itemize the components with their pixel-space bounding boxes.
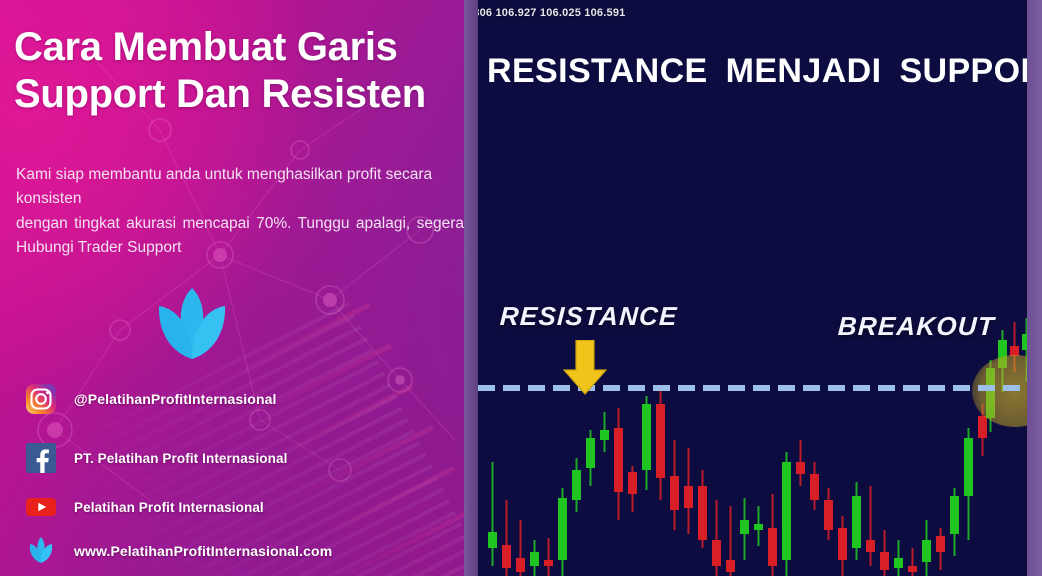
- facebook-icon[interactable]: [26, 443, 56, 473]
- contact-label: @PelatihanProfitInternasional: [74, 391, 276, 407]
- down-arrow-icon: [563, 340, 607, 395]
- candlestick-chart: [478, 0, 1027, 576]
- contact-website[interactable]: www.PelatihanProfitInternasional.com: [26, 536, 332, 566]
- contact-label: www.PelatihanProfitInternasional.com: [74, 543, 332, 559]
- lotus-logo: [146, 286, 238, 368]
- contact-youtube[interactable]: Pelatihan Profit Internasional: [26, 492, 264, 522]
- contact-label: PT. Pelatihan Profit Internasional: [74, 451, 287, 466]
- chart-panel: .806 106.927 106.025 106.591 RESISTANCEM…: [478, 0, 1027, 576]
- panel-divider: [464, 0, 478, 576]
- instagram-icon[interactable]: [26, 384, 56, 414]
- youtube-icon[interactable]: [26, 492, 56, 522]
- breakout-annotation: BREAKOUT: [837, 311, 996, 342]
- lotus-icon[interactable]: [26, 536, 56, 566]
- resistance-annotation: RESISTANCE: [499, 301, 678, 332]
- resistance-dashed-line: [478, 385, 1027, 391]
- left-promo-panel: Cara Membuat Garis Support Dan Resisten …: [0, 0, 468, 576]
- contact-label: Pelatihan Profit Internasional: [74, 500, 264, 515]
- right-edge-strip: [1027, 0, 1042, 576]
- promo-graphic: Cara Membuat Garis Support Dan Resisten …: [0, 0, 1042, 576]
- contact-facebook[interactable]: PT. Pelatihan Profit Internasional: [26, 443, 287, 473]
- page-title: Cara Membuat Garis Support Dan Resisten: [14, 24, 466, 118]
- subcopy-line-2: dengan tingkat akurasi mencapai 70%. Tun…: [16, 212, 464, 261]
- contact-instagram[interactable]: @PelatihanProfitInternasional: [26, 384, 276, 414]
- subcopy-line-1: Kami siap membantu anda untuk menghasilk…: [16, 163, 464, 212]
- promo-subcopy: Kami siap membantu anda untuk menghasilk…: [16, 163, 464, 261]
- diagonal-texture: [54, 302, 468, 576]
